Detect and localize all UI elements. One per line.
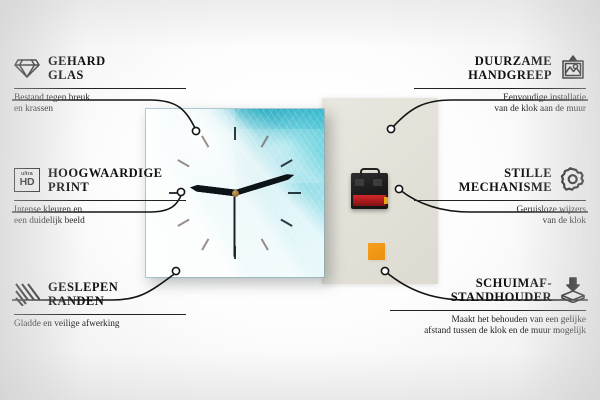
feature-description: Gladde en veilige afwerking [14, 319, 186, 330]
hand-center-cap [232, 190, 239, 197]
feature-divider [414, 200, 586, 201]
ultra-hd-icon: ultra HD [14, 167, 40, 193]
feature-schuimafstandhouder: SCHUIMAF- STANDHOUDER Maakt het behouden… [390, 274, 586, 338]
hd-badge-label: HD [20, 177, 35, 188]
hour-hand [189, 184, 236, 197]
gear-icon [560, 167, 586, 193]
clock-mechanism [351, 173, 388, 209]
foam-spacer-icon [560, 277, 586, 303]
feature-title: GESLEPEN RANDEN [48, 280, 118, 309]
battery [353, 195, 386, 206]
feature-description: Bestand tegen breuk en krassen [14, 93, 186, 116]
diamond-icon [14, 55, 40, 81]
minute-hand [234, 172, 295, 196]
feature-gehard-glas: GEHARD GLAS Bestand tegen breuk en krass… [14, 52, 186, 116]
feature-divider [390, 310, 586, 311]
feature-divider [14, 200, 186, 201]
feature-title: HOOGWAARDIGE PRINT [48, 166, 162, 195]
feature-title: GEHARD GLAS [48, 54, 106, 83]
foam-spacer-pad [368, 243, 385, 260]
feature-duurzame-handgreep: DUURZAME HANDGREEP Eenvoudige installati… [414, 52, 586, 116]
feature-title: DUURZAME HANDGREEP [468, 54, 552, 83]
infographic-canvas: GEHARD GLAS Bestand tegen breuk en krass… [0, 0, 600, 400]
feature-hoogwaardige-print: ultra HD HOOGWAARDIGE PRINT Intense kleu… [14, 164, 186, 228]
feature-description: Geruisloze wijzers van de klok [414, 205, 586, 228]
mechanism-detail-right [373, 179, 382, 186]
mechanism-detail-left [355, 179, 364, 186]
feature-divider [14, 314, 186, 315]
second-hand [234, 193, 236, 257]
feature-description: Eenvoudige installatie van de klok aan d… [414, 93, 586, 116]
feature-description: Maakt het behouden van een gelijke afsta… [390, 315, 586, 338]
feature-title: SCHUIMAF- STANDHOUDER [451, 276, 552, 305]
feature-title: STILLE MECHANISME [459, 166, 552, 195]
feature-description: Intense kleuren en een duidelijk beeld [14, 205, 186, 228]
feature-stille-mechanisme: STILLE MECHANISME Geruisloze wijzers van… [414, 164, 586, 228]
feature-divider [414, 88, 586, 89]
picture-hanger-icon [560, 55, 586, 81]
feature-divider [14, 88, 186, 89]
feature-geslepen-randen: GESLEPEN RANDEN Gladde en veilige afwerk… [14, 278, 186, 330]
beveled-edges-icon [14, 281, 40, 307]
